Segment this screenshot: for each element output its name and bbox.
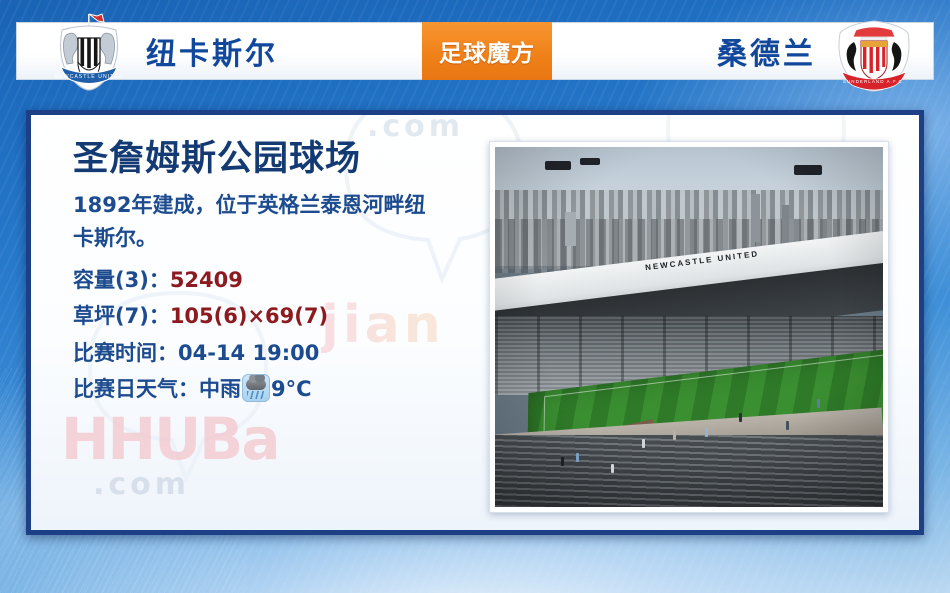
svg-text:SUNDERLAND A.F.C.: SUNDERLAND A.F.C. [843, 79, 905, 84]
fact-pitch-label: 草坪(7) [73, 304, 149, 328]
fact-pitch: 草坪(7)：105(6)×69(7) [73, 298, 493, 334]
fact-pitch-sep: ： [149, 304, 170, 328]
stadium-photo: NEWCASTLE UNITED [495, 147, 883, 507]
photo-perimeter-track [501, 419, 660, 483]
fact-capacity-value: 52409 [170, 268, 243, 292]
photo-upper-stand [495, 316, 883, 395]
stadium-content: 圣詹姆斯公园球场 1892年建成，位于英格兰泰恩河畔纽卡斯尔。 容量(3)：52… [73, 139, 493, 407]
newcastle-united-crest-icon: NEWCASTLE UNITED [52, 12, 126, 92]
photo-person [576, 453, 579, 462]
photo-person [611, 464, 614, 473]
site-logo-text: 足球魔方 [439, 34, 535, 68]
photo-tower-c [565, 212, 576, 246]
photo-stand-rows [495, 316, 883, 395]
photo-concourse [495, 407, 883, 463]
moderate-rain-cloud-icon [242, 374, 270, 402]
fact-capacity: 容量(3)：52409 [73, 262, 493, 298]
fact-kickoff-label: 比赛时间 [73, 341, 157, 365]
photo-pitch [527, 346, 883, 502]
fact-weather-condition: 中雨 [199, 377, 241, 401]
match-header: NEWCASTLE UNITED 纽卡斯尔 足球魔方 桑德兰 SUNDERLAN… [16, 22, 934, 80]
watermark-domain-left: .com [93, 467, 190, 502]
photo-floodlight-a [545, 161, 571, 170]
photo-foreground-rows [495, 435, 883, 507]
svg-text:NEWCASTLE UNITED: NEWCASTLE UNITED [54, 74, 123, 80]
photo-cityscape-near [495, 219, 883, 273]
stadium-description: 1892年建成，位于英格兰泰恩河畔纽卡斯尔。 [73, 189, 433, 254]
fact-capacity-label: 容量(3) [73, 268, 149, 292]
photo-person [739, 413, 742, 422]
photo-tower-a [751, 194, 760, 242]
photo-person [561, 457, 564, 466]
fact-weather-sep: ： [178, 377, 199, 401]
photo-tower-b [782, 205, 789, 245]
fact-weather-temperature: 9°C [271, 377, 312, 401]
photo-floodlight-b [580, 158, 600, 165]
away-team-name: 桑德兰 [717, 22, 816, 80]
photo-stand-roof: NEWCASTLE UNITED [495, 230, 883, 324]
stadium-info-panel: HHUBa .com .com .com jian 欢呼吧 圣詹姆斯公园球场 1… [26, 110, 924, 535]
photo-person [705, 428, 708, 437]
fact-weather-label: 比赛日天气 [73, 377, 178, 401]
fact-kickoff: 比赛时间：04-14 19:00 [73, 335, 493, 371]
photo-sky [495, 147, 883, 266]
stadium-title: 圣詹姆斯公园球场 [73, 139, 493, 179]
fact-weather: 比赛日天气：中雨9°C [73, 371, 493, 407]
photo-stand-signage: NEWCASTLE UNITED [645, 249, 760, 272]
panel-inner: HHUBa .com .com .com jian 欢呼吧 圣詹姆斯公园球场 1… [31, 115, 919, 530]
photo-floodlight-c [794, 165, 822, 175]
photo-person [673, 431, 676, 440]
watermark-brand-text: HHUBa [61, 405, 279, 473]
photo-person [817, 399, 820, 408]
fact-kickoff-value: 04-14 19:00 [178, 341, 319, 365]
fact-pitch-value: 105(6)×69(7) [170, 304, 328, 328]
stadium-photo-frame[interactable]: NEWCASTLE UNITED [489, 141, 889, 513]
photo-foreground-seats [495, 435, 883, 507]
photo-cityscape [495, 190, 883, 269]
sunderland-afc-crest-icon: SUNDERLAND A.F.C. [834, 18, 914, 94]
photo-pitch-markings [542, 353, 883, 497]
photo-person [642, 439, 645, 448]
photo-stand-vomitories [495, 316, 883, 395]
home-team-name: 纽卡斯尔 [146, 22, 278, 80]
photo-person [786, 421, 789, 430]
site-logo[interactable]: 足球魔方 [422, 22, 552, 80]
fact-kickoff-sep: ： [157, 341, 178, 365]
photo-roof-shadow [495, 262, 883, 360]
fact-capacity-sep: ： [149, 268, 170, 292]
